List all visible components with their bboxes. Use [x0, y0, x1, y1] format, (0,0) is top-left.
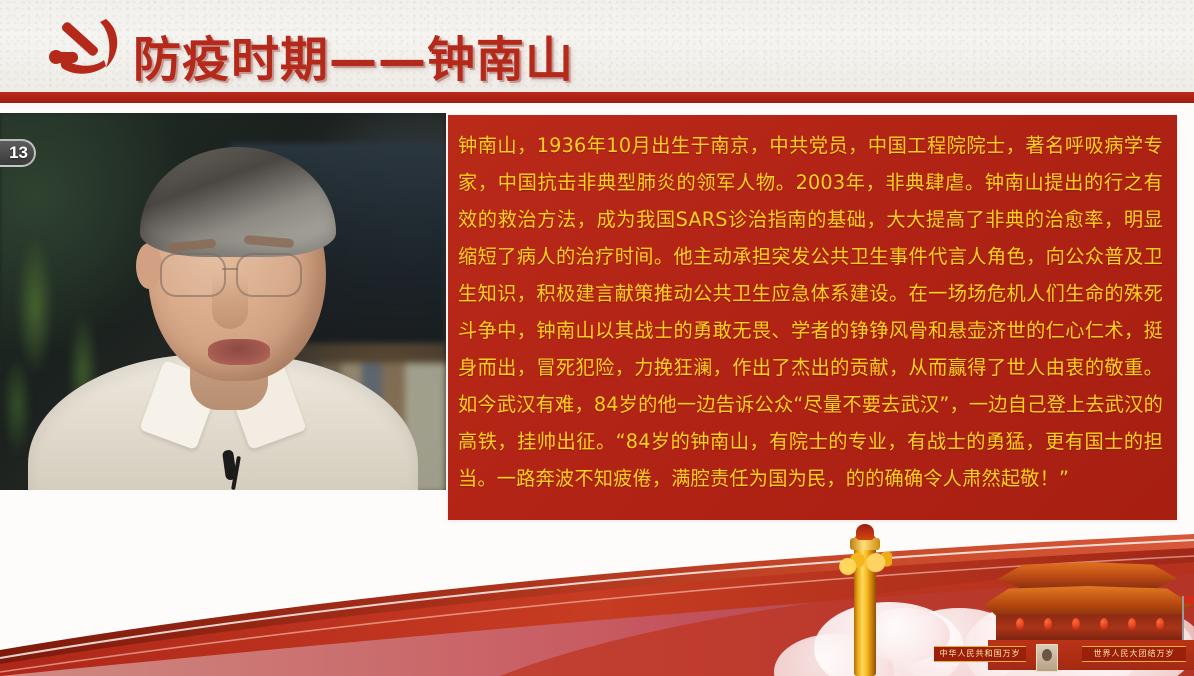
subject-mouth [208, 339, 270, 365]
tiananmen-gate-icon: 中华人民共和国万岁 世界人民大团结万岁 [982, 556, 1194, 676]
channel-badge: 13 [0, 139, 36, 167]
slide-header: 防疫时期——钟南山 [0, 0, 1194, 92]
huabiao-column-icon [842, 516, 886, 676]
gate-body [996, 614, 1182, 640]
subject-ear [136, 243, 162, 289]
huabiao-top [856, 524, 874, 540]
slide-root: 防疫时期——钟南山 13 钟南山，1936年10月出生于南京，中共党员，中国工程… [0, 0, 1194, 676]
gate-banner-left: 中华人民共和国万岁 [934, 646, 1026, 662]
gate-banner-right: 世界人民大团结万岁 [1082, 646, 1186, 662]
bottom-decoration: 中华人民共和国万岁 世界人民大团结万岁 [0, 500, 1194, 676]
page-title: 防疫时期——钟南山 [133, 20, 574, 90]
biography-text: 钟南山，1936年10月出生于南京，中共党员，中国工程院院士，著名呼吸病学专家，… [458, 127, 1163, 497]
gate-upper-roof [998, 562, 1178, 588]
header-divider [0, 92, 1194, 103]
portrait-photo-icon: 13 [0, 113, 446, 490]
subject-nose [212, 273, 248, 329]
mao-portrait-icon [1036, 644, 1058, 672]
hammer-and-sickle-icon [40, 16, 132, 80]
glasses-bridge [222, 268, 238, 270]
huabiao-cloud-wing [838, 550, 892, 580]
biography-panel: 钟南山，1936年10月出生于南京，中共党员，中国工程院院士，著名呼吸病学专家，… [448, 115, 1177, 520]
flag-icon [1182, 596, 1184, 640]
